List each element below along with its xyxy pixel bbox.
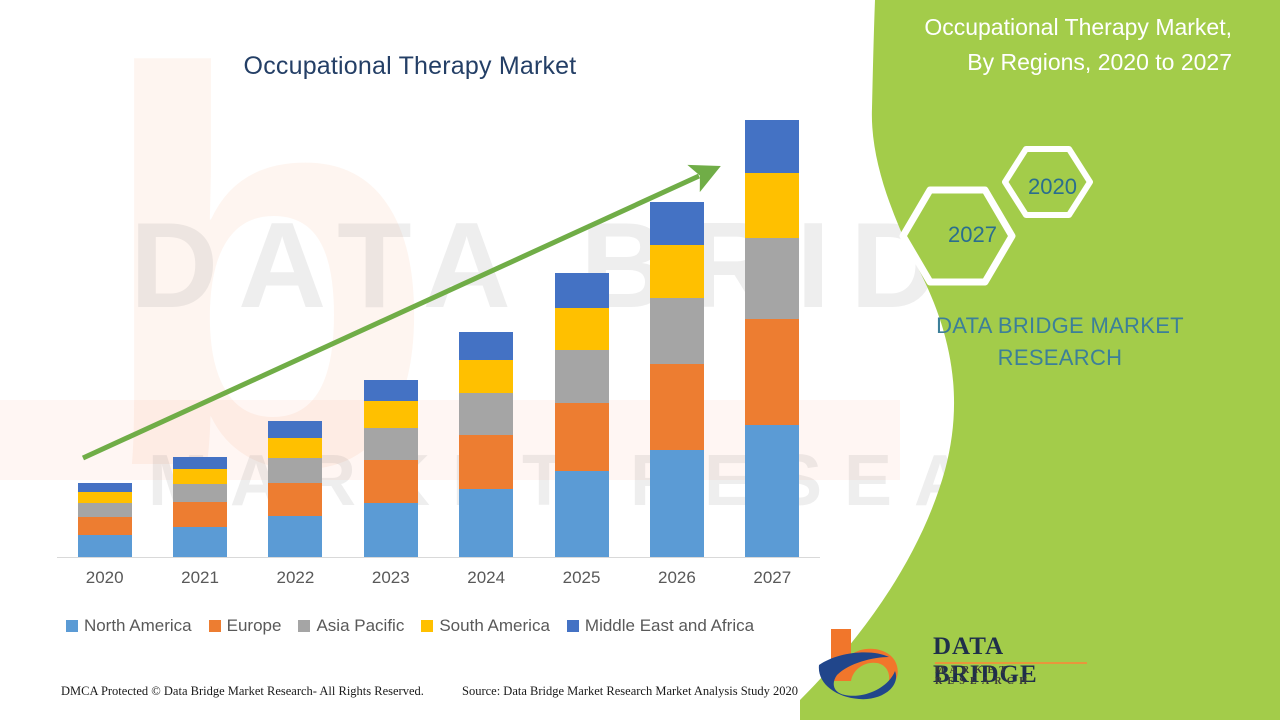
bar-segment (78, 535, 132, 557)
bar-segment (78, 503, 132, 517)
bar-segment (173, 457, 227, 469)
bar-segment (555, 350, 609, 402)
hexagon-label-2020: 2020 (1028, 174, 1077, 200)
x-axis-label-2023: 2023 (351, 568, 431, 588)
legend-label: Europe (227, 616, 282, 636)
hexagon-group: 2027 2020 (800, 140, 1280, 295)
bar-segment (364, 380, 418, 401)
bar-segment (555, 273, 609, 307)
bar-segment (650, 202, 704, 245)
bar-segment (268, 458, 322, 483)
logo-mark-icon (815, 625, 925, 701)
x-axis-labels: 20202021202220232024202520262027 (57, 568, 820, 598)
plot-area (57, 110, 820, 557)
bar-segment (555, 403, 609, 472)
legend-label: North America (84, 616, 192, 636)
bar-segment (268, 438, 322, 458)
x-axis-label-2020: 2020 (65, 568, 145, 588)
legend-label: Middle East and Africa (585, 616, 754, 636)
bar-segment (650, 450, 704, 557)
legend-item-4[interactable]: Middle East and Africa (567, 616, 754, 636)
chart-panel: Occupational Therapy Market 202020212022… (0, 0, 900, 720)
bar-segment (459, 435, 513, 489)
bar-group-2020 (78, 483, 132, 557)
bar-group-2025 (555, 273, 609, 557)
bar-segment (459, 332, 513, 359)
company-logo: DATA BRIDGE MARKET RESEARCH (815, 625, 1075, 705)
bar-segment (268, 421, 322, 437)
bar-group-2022 (268, 421, 322, 557)
bar-segment (78, 517, 132, 535)
legend-item-2[interactable]: Asia Pacific (298, 616, 404, 636)
bar-segment (268, 516, 322, 557)
x-axis-label-2025: 2025 (542, 568, 622, 588)
bar-group-2027 (745, 120, 799, 557)
legend-swatch-icon (209, 620, 221, 632)
legend-swatch-icon (567, 620, 579, 632)
bar-segment (745, 319, 799, 425)
hexagon-label-2027: 2027 (948, 222, 997, 248)
copyright-text: DMCA Protected © Data Bridge Market Rese… (61, 684, 424, 699)
bar-segment (555, 471, 609, 557)
bar-segment (364, 503, 418, 557)
bar-segment (745, 425, 799, 557)
bar-segment (745, 120, 799, 173)
bar-segment (459, 489, 513, 557)
bar-segment (459, 393, 513, 434)
brand-name: DATA BRIDGE MARKET RESEARCH (860, 310, 1260, 374)
bar-segment (364, 428, 418, 461)
legend-swatch-icon (421, 620, 433, 632)
brand-panel: Occupational Therapy Market, By Regions,… (800, 0, 1280, 720)
bar-segment (173, 502, 227, 526)
x-axis-label-2024: 2024 (446, 568, 526, 588)
bar-segment (173, 527, 227, 557)
logo-subtext: MARKET RESEARCH (935, 665, 1075, 687)
bar-segment (459, 360, 513, 394)
bar-segment (745, 173, 799, 238)
bar-segment (364, 460, 418, 503)
legend-item-1[interactable]: Europe (209, 616, 282, 636)
legend-label: Asia Pacific (316, 616, 404, 636)
source-text: Source: Data Bridge Market Research Mark… (462, 684, 798, 699)
brand-name-line2: RESEARCH (860, 342, 1260, 374)
chart-legend: North AmericaEuropeAsia PacificSouth Ame… (0, 616, 820, 636)
panel-title: Occupational Therapy Market, By Regions,… (820, 10, 1270, 80)
bar-segment (650, 364, 704, 450)
bar-segment (650, 245, 704, 298)
hexagon-shapes (800, 140, 1280, 295)
bar-segment (650, 298, 704, 363)
x-axis-label-2021: 2021 (160, 568, 240, 588)
legend-label: South America (439, 616, 550, 636)
bar-segment (173, 484, 227, 503)
bar-group-2024 (459, 332, 513, 557)
x-axis-line (57, 557, 820, 558)
chart-title: Occupational Therapy Market (0, 52, 820, 81)
legend-swatch-icon (66, 620, 78, 632)
bar-segment (268, 483, 322, 516)
legend-item-3[interactable]: South America (421, 616, 550, 636)
legend-item-0[interactable]: North America (66, 616, 192, 636)
bar-group-2023 (364, 380, 418, 557)
bar-segment (78, 483, 132, 492)
panel-title-line2: By Regions, 2020 to 2027 (820, 45, 1232, 80)
bar-group-2021 (173, 457, 227, 557)
bar-group-2026 (650, 202, 704, 557)
legend-swatch-icon (298, 620, 310, 632)
logo-divider (935, 662, 1087, 664)
x-axis-label-2022: 2022 (255, 568, 335, 588)
bar-segment (745, 238, 799, 318)
bar-segment (78, 492, 132, 503)
bar-segment (364, 401, 418, 427)
bar-segment (555, 308, 609, 351)
bar-segment (173, 469, 227, 484)
x-axis-label-2026: 2026 (637, 568, 717, 588)
panel-title-line1: Occupational Therapy Market, (820, 10, 1232, 45)
brand-name-line1: DATA BRIDGE MARKET (860, 310, 1260, 342)
